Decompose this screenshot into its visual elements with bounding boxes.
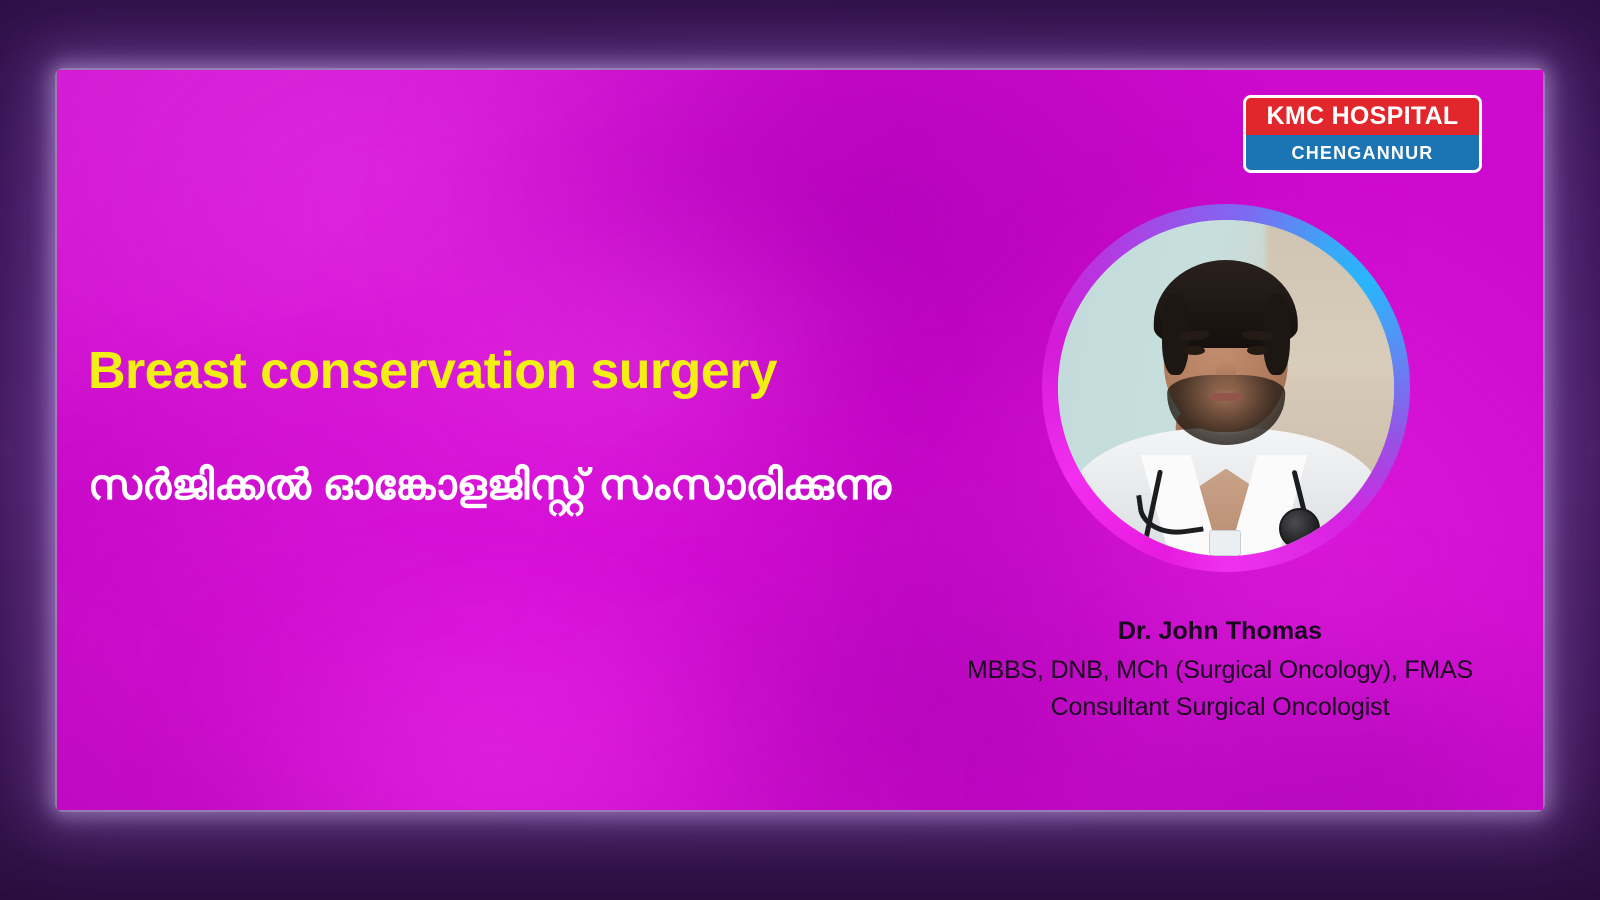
doctor-name: Dr. John Thomas bbox=[930, 615, 1510, 648]
doctor-qualifications: MBBS, DNB, MCh (Surgical Oncology), FMAS bbox=[930, 654, 1510, 687]
page-title-english: Breast conservation surgery bbox=[88, 344, 988, 399]
logo-location-name: CHENGANNUR bbox=[1292, 144, 1434, 162]
portrait-nose bbox=[1216, 361, 1236, 391]
logo-hospital-name: KMC HOSPITAL bbox=[1266, 104, 1458, 129]
doctor-portrait-photo bbox=[1058, 220, 1394, 556]
doctor-info-block: Dr. John Thomas MBBS, DNB, MCh (Surgical… bbox=[930, 615, 1510, 724]
background-swirl bbox=[177, 590, 817, 810]
kmc-hospital-logo: KMC HOSPITAL CHENGANNUR bbox=[1243, 95, 1482, 173]
doctor-role: Consultant Surgical Oncologist bbox=[930, 691, 1510, 724]
headline-block: Breast conservation surgery സർജിക്കൽ ഓങ്… bbox=[88, 344, 988, 509]
photo-ring-gap bbox=[1049, 211, 1403, 565]
logo-name-bar: KMC HOSPITAL bbox=[1246, 98, 1479, 135]
page-title-malayalam: സർജിക്കൽ ഓങ്കോളജിസ്റ്റ് സംസാരിക്കുന്നു bbox=[88, 461, 988, 509]
background-swirl bbox=[57, 70, 877, 590]
slide-canvas: KMC HOSPITAL CHENGANNUR Breast conservat… bbox=[0, 0, 1600, 900]
doctor-photo-ring bbox=[1042, 204, 1410, 572]
portrait-id-badge bbox=[1209, 530, 1241, 556]
portrait-lips bbox=[1209, 393, 1243, 401]
logo-location-bar: CHENGANNUR bbox=[1246, 135, 1479, 170]
